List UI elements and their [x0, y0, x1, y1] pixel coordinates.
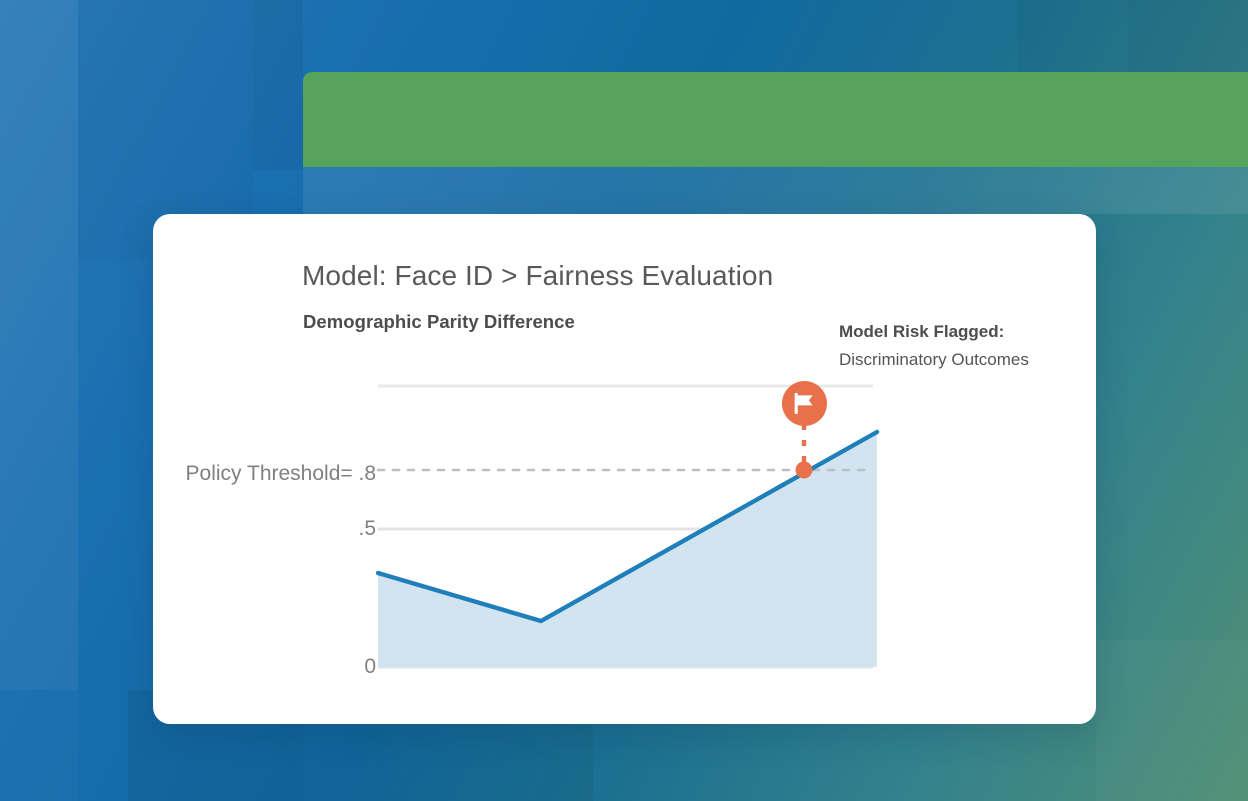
- background-tile: [1018, 0, 1128, 72]
- annotation-subtitle: Discriminatory Outcomes: [839, 346, 1099, 374]
- axis-label-zero: 0: [216, 655, 376, 679]
- axis-label-half: .5: [216, 517, 376, 541]
- risk-marker-dot: [796, 462, 813, 479]
- background-tile: [253, 0, 303, 170]
- background-tile: [0, 0, 78, 690]
- background-tile: [0, 690, 78, 801]
- background-tile: [1128, 0, 1248, 72]
- background-tile: [303, 167, 1248, 214]
- browser-titlebar: [303, 72, 1248, 167]
- background-tile: [1096, 640, 1248, 801]
- report-card: Model: Face ID > Fairness Evaluation Dem…: [153, 214, 1096, 724]
- axis-label-threshold: Policy Threshold= .8: [126, 462, 376, 486]
- browser-window: [303, 72, 1248, 167]
- fairness-area-chart: Policy Threshold= .8 .5 0 Model Risk Fla…: [153, 214, 1096, 724]
- flag-icon: [793, 393, 816, 414]
- risk-flag-badge[interactable]: [782, 381, 827, 426]
- risk-annotation: Model Risk Flagged: Discriminatory Outco…: [839, 318, 1099, 374]
- annotation-title: Model Risk Flagged:: [839, 318, 1099, 346]
